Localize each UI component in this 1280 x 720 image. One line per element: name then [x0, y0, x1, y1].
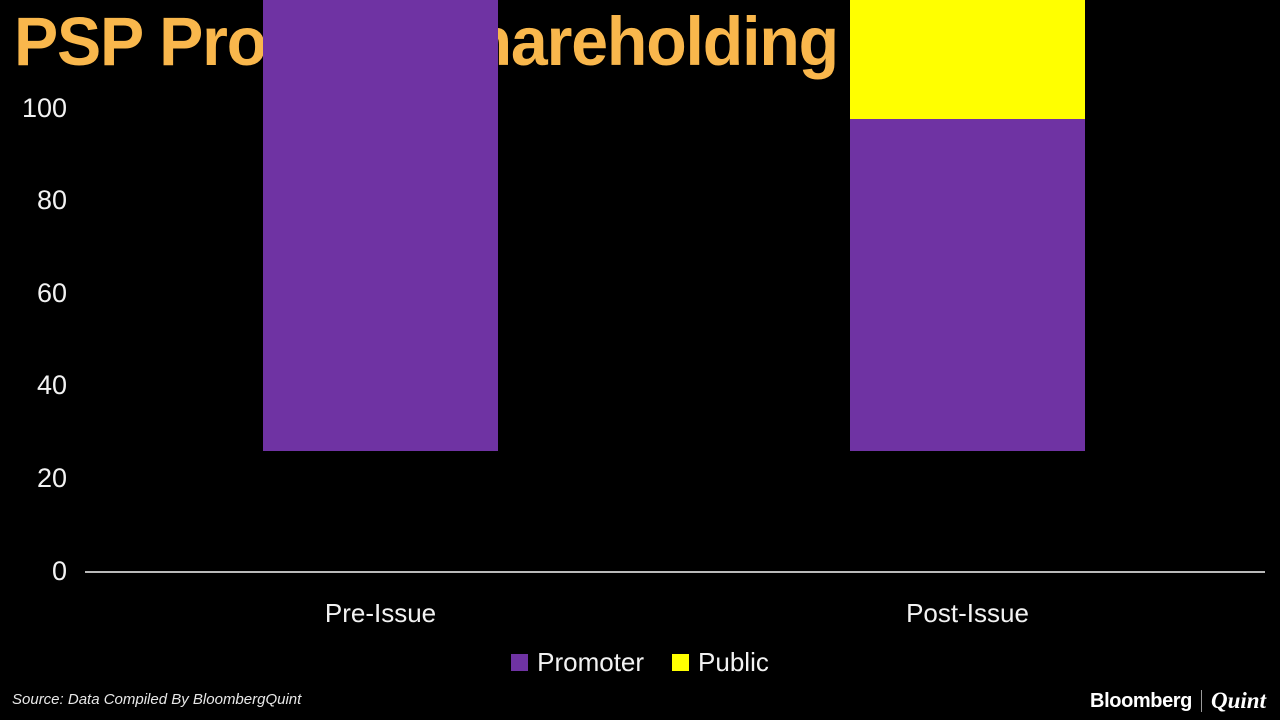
source-note: Source: Data Compiled By BloombergQuint	[12, 690, 301, 710]
y-tick-label-100: 100	[0, 95, 67, 122]
bar-segment-post-issue-promoter[interactable]	[850, 119, 1085, 451]
legend-label-public: Public	[698, 647, 769, 677]
plot-area: 100 80 60 40 20 0 Pre-Issue Post-Issue	[0, 0, 1280, 600]
bar-segment-post-issue-public[interactable]	[850, 0, 1085, 119]
y-tick-label-60: 60	[0, 280, 67, 307]
x-tick-label-post-issue: Post-Issue	[850, 598, 1085, 628]
legend-item-promoter[interactable]: Promoter	[511, 647, 644, 677]
y-tick-label-40: 40	[0, 372, 67, 399]
public-swatch-icon	[672, 654, 689, 671]
legend-item-public[interactable]: Public	[672, 647, 769, 677]
y-tick-label-20: 20	[0, 465, 67, 492]
promoter-swatch-icon	[511, 654, 528, 671]
y-tick-label-0: 0	[0, 558, 67, 585]
x-axis-line	[85, 571, 1265, 573]
y-tick-label-80: 80	[0, 187, 67, 214]
brand-divider-icon	[1201, 690, 1202, 712]
bar-pre-issue[interactable]	[263, 0, 498, 451]
chart-footer: Source: Data Compiled By BloombergQuint …	[0, 688, 1280, 720]
brand-quint-wordmark: Quint	[1211, 688, 1266, 714]
bar-segment-pre-issue-promoter[interactable]	[263, 0, 498, 451]
bar-post-issue[interactable]	[850, 0, 1085, 451]
legend-label-promoter: Promoter	[537, 647, 644, 677]
chart-canvas: PSP Projects Shareholding Pattern 100 80…	[0, 0, 1280, 720]
bloombergquint-logo: Bloomberg Quint	[1090, 688, 1266, 714]
brand-bloomberg-wordmark: Bloomberg	[1090, 688, 1192, 714]
chart-legend: Promoter Public	[0, 646, 1280, 678]
x-tick-label-pre-issue: Pre-Issue	[263, 598, 498, 628]
